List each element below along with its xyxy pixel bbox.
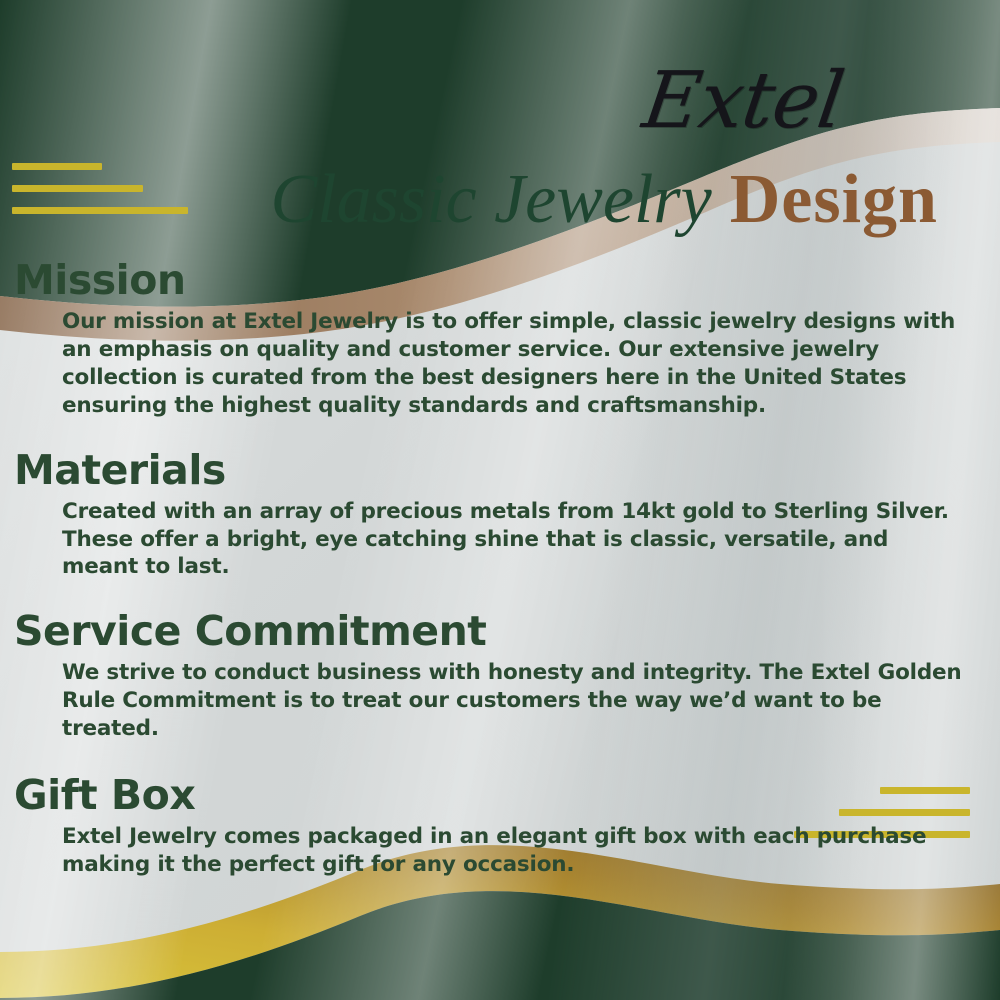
section-gift-box: Gift Box Extel Jewelry comes packaged in… [0, 773, 1000, 879]
section-service-commitment: Service Commitment We strive to conduct … [0, 609, 1000, 743]
poster-canvas: Extel Classic Jewelry Design Mission Our… [0, 0, 1000, 1000]
gold-rule-long [12, 207, 188, 214]
section-heading-gift-box: Gift Box [0, 773, 1000, 819]
title-classic-jewelry: Classic Jewelry [270, 165, 711, 235]
section-body-gift-box: Extel Jewelry comes packaged in an elega… [0, 823, 1000, 879]
content-sections: Mission Our mission at Extel Jewelry is … [0, 258, 1000, 883]
decorative-rules-top-left [12, 163, 188, 214]
bottom-green-wave [0, 891, 1000, 1000]
gold-rule-short [12, 163, 102, 170]
gold-rule-medium [12, 185, 143, 192]
section-heading-materials: Materials [0, 448, 1000, 494]
section-heading-mission: Mission [0, 258, 1000, 304]
section-mission: Mission Our mission at Extel Jewelry is … [0, 258, 1000, 420]
title-design: Design [730, 165, 938, 235]
section-body-materials: Created with an array of precious metals… [0, 498, 1000, 582]
section-body-mission: Our mission at Extel Jewelry is to offer… [0, 308, 1000, 420]
brand-logo: Extel [638, 62, 847, 140]
section-heading-service-commitment: Service Commitment [0, 609, 1000, 655]
section-materials: Materials Created with an array of preci… [0, 448, 1000, 582]
section-body-service-commitment: We strive to conduct business with hones… [0, 659, 1000, 743]
